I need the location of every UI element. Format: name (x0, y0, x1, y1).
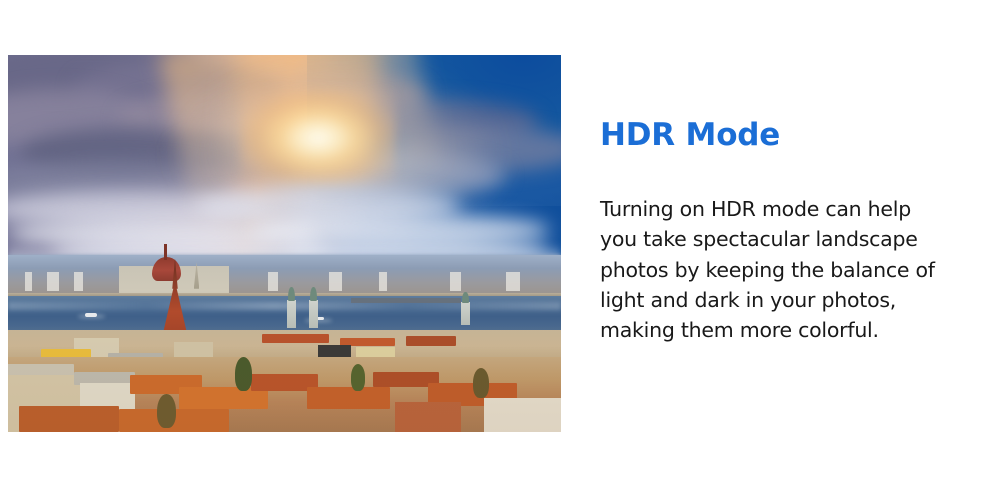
building-facade (395, 402, 461, 432)
tree (157, 394, 176, 428)
distant-building (74, 272, 83, 291)
tree (235, 357, 253, 391)
distant-building (268, 272, 278, 291)
tiled-roof (262, 334, 328, 343)
church-tower (461, 302, 469, 325)
distant-building (450, 272, 461, 291)
tree (351, 364, 365, 390)
distant-building (379, 272, 387, 291)
tiled-roof (406, 336, 456, 346)
distant-building (506, 272, 520, 291)
building-facade (484, 398, 561, 432)
tree (473, 368, 490, 398)
tiled-roof (19, 406, 119, 432)
parliament-spire (164, 244, 167, 261)
distant-building (25, 272, 33, 291)
hdr-sample-photo (8, 55, 561, 432)
water-reflection (8, 302, 561, 310)
tiled-roof (307, 387, 390, 410)
river-boat (85, 313, 97, 316)
danube-bridge (351, 298, 462, 303)
photo-canvas (8, 55, 561, 432)
church-tower (309, 300, 317, 328)
feature-description: Turning on HDR mode can help you take sp… (600, 152, 972, 346)
hdr-mode-feature-panel: HDR Mode Turning on HDR mode can help yo… (0, 0, 1000, 485)
feature-text-block: HDR Mode Turning on HDR mode can help yo… (600, 118, 972, 346)
sun-burst (240, 89, 395, 187)
distant-building (329, 272, 342, 291)
distant-building (47, 272, 59, 291)
page-title: HDR Mode (600, 118, 972, 152)
church-tower (287, 300, 295, 328)
